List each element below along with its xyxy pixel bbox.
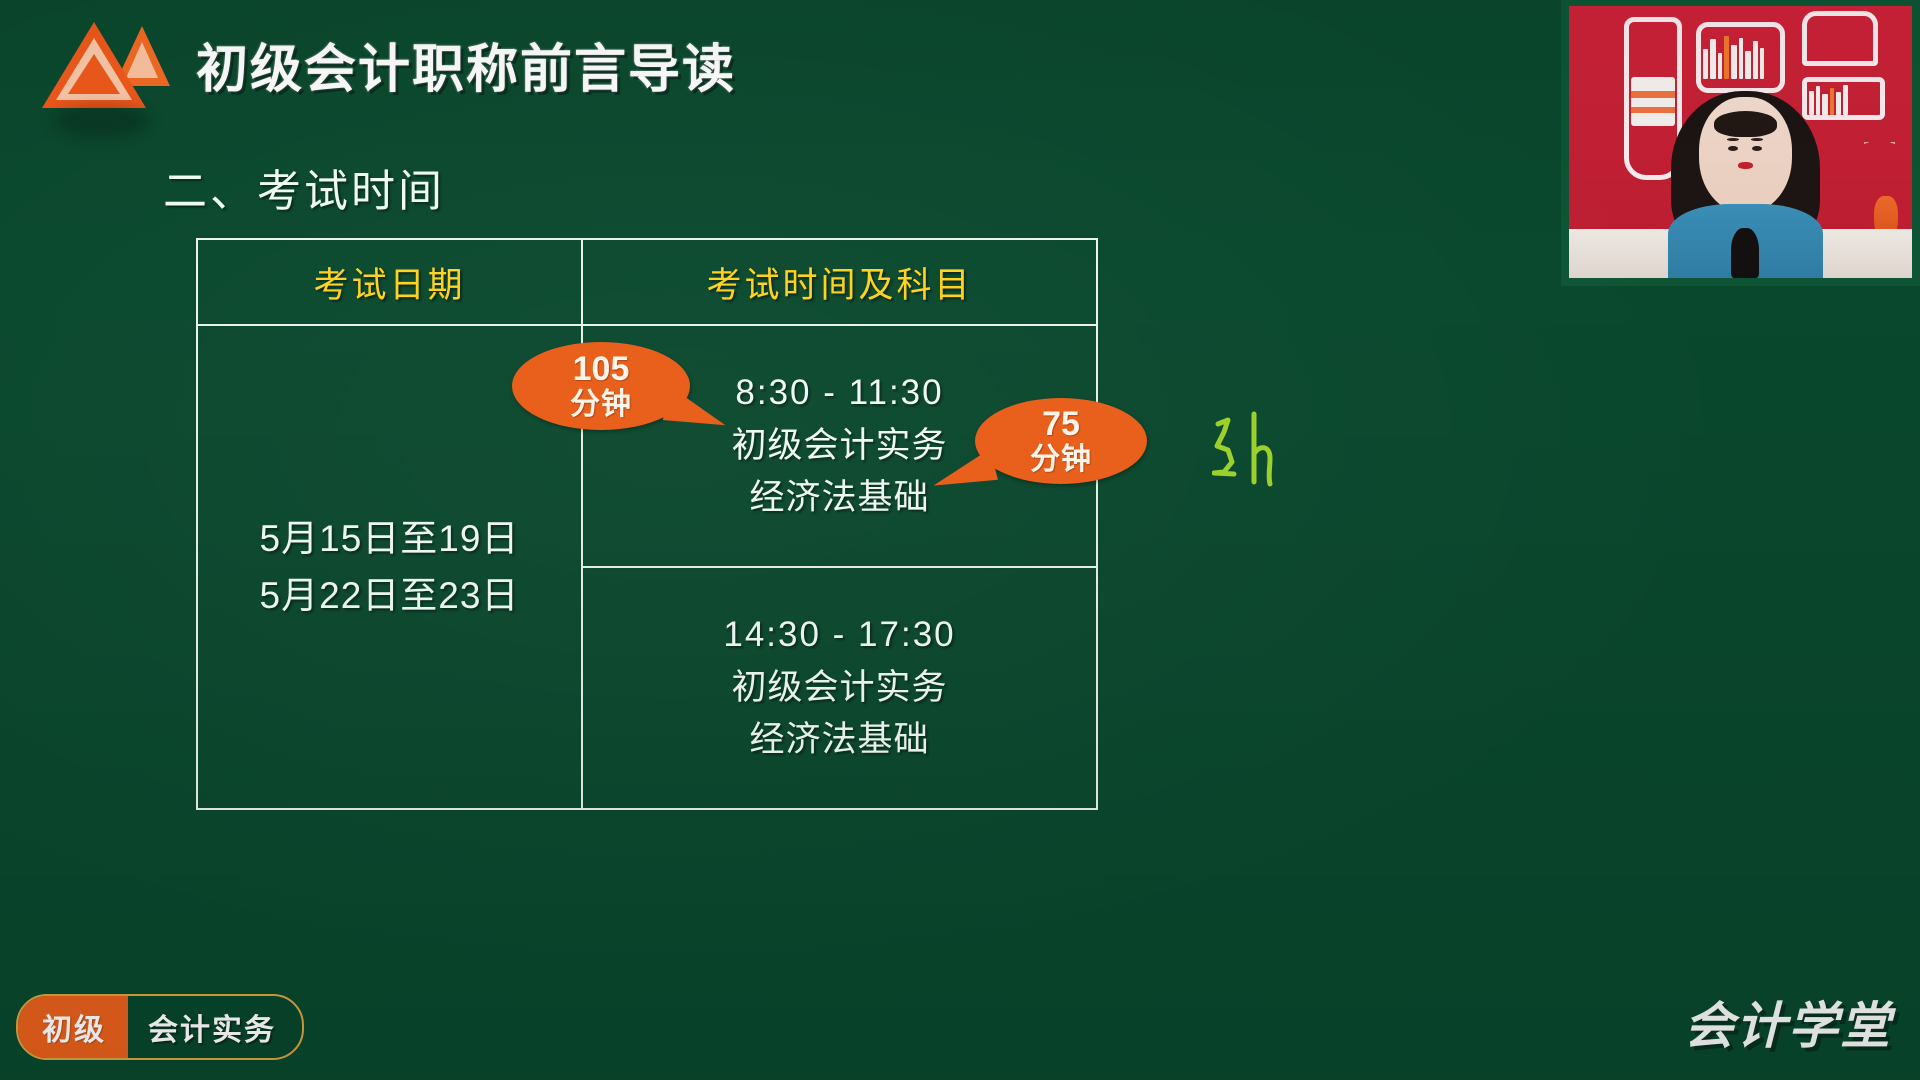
exam-date-line-2: 5月22日至23日 — [199, 567, 580, 624]
presenter-mouth — [1738, 162, 1753, 169]
presenter-eye-right — [1752, 146, 1762, 151]
bubble-number: 105 — [573, 350, 630, 388]
bubble-number: 75 — [1042, 405, 1080, 443]
handwritten-ink-annotation — [1212, 410, 1302, 520]
presenter-brow-right — [1751, 138, 1763, 141]
backdrop-shelf-right-top — [1802, 11, 1877, 65]
presenter-brow-left — [1727, 138, 1739, 141]
exam-schedule-table: 考试日期 考试时间及科目 5月15日至19日 5月22日至23日 8:30 - … — [196, 238, 1098, 810]
page-title: 初级会计职称前言导读 — [196, 27, 736, 108]
afternoon-slot-cell: 14:30 - 17:30 初级会计实务 经济法基础 — [582, 567, 1097, 809]
presenter-face — [1699, 97, 1792, 212]
column-header-time-subject: 考试时间及科目 — [582, 239, 1097, 325]
column-header-date: 考试日期 — [197, 239, 582, 325]
brand-logo — [42, 8, 170, 126]
table-header-row: 考试日期 考试时间及科目 — [197, 239, 1097, 325]
course-subject-label: 会计实务 — [128, 996, 302, 1058]
handwritten-3h-icon — [1212, 410, 1302, 520]
presenter-fringe — [1714, 111, 1778, 136]
backdrop-twig-decor — [1864, 142, 1895, 202]
presenter-figure — [1665, 60, 1826, 278]
microphone-icon — [1731, 228, 1758, 278]
afternoon-subject-2: 经济法基础 — [583, 714, 1096, 767]
brand-watermark: 会计学堂 — [1684, 986, 1892, 1058]
logo-shadow — [54, 104, 150, 138]
exam-date-line-1: 5月15日至19日 — [199, 510, 580, 567]
presenter-eye-left — [1728, 146, 1738, 151]
presenter-webcam-panel[interactable] — [1561, 0, 1920, 286]
afternoon-subject-1: 初级会计实务 — [583, 662, 1096, 715]
slide-canvas: 初级会计职称前言导读 二、考试时间 考试日期 考试时间及科目 5月15日至19日… — [0, 0, 1920, 1080]
course-level-label: 初级 — [18, 996, 128, 1058]
course-badge: 初级 会计实务 — [16, 994, 304, 1060]
morning-subject-2: 经济法基础 — [583, 472, 1096, 525]
webcam-video-feed[interactable] — [1569, 6, 1912, 278]
afternoon-time-range: 14:30 - 17:30 — [583, 609, 1096, 662]
section-heading: 二、考试时间 — [163, 155, 445, 219]
slide-header: 初级会计职称前言导读 — [42, 8, 736, 126]
bubble-unit: 分钟 — [570, 388, 632, 422]
callout-bubble-105-minutes: 105 分钟 — [512, 342, 690, 430]
bubble-unit: 分钟 — [1030, 443, 1092, 477]
callout-bubble-75-minutes: 75 分钟 — [975, 398, 1147, 484]
